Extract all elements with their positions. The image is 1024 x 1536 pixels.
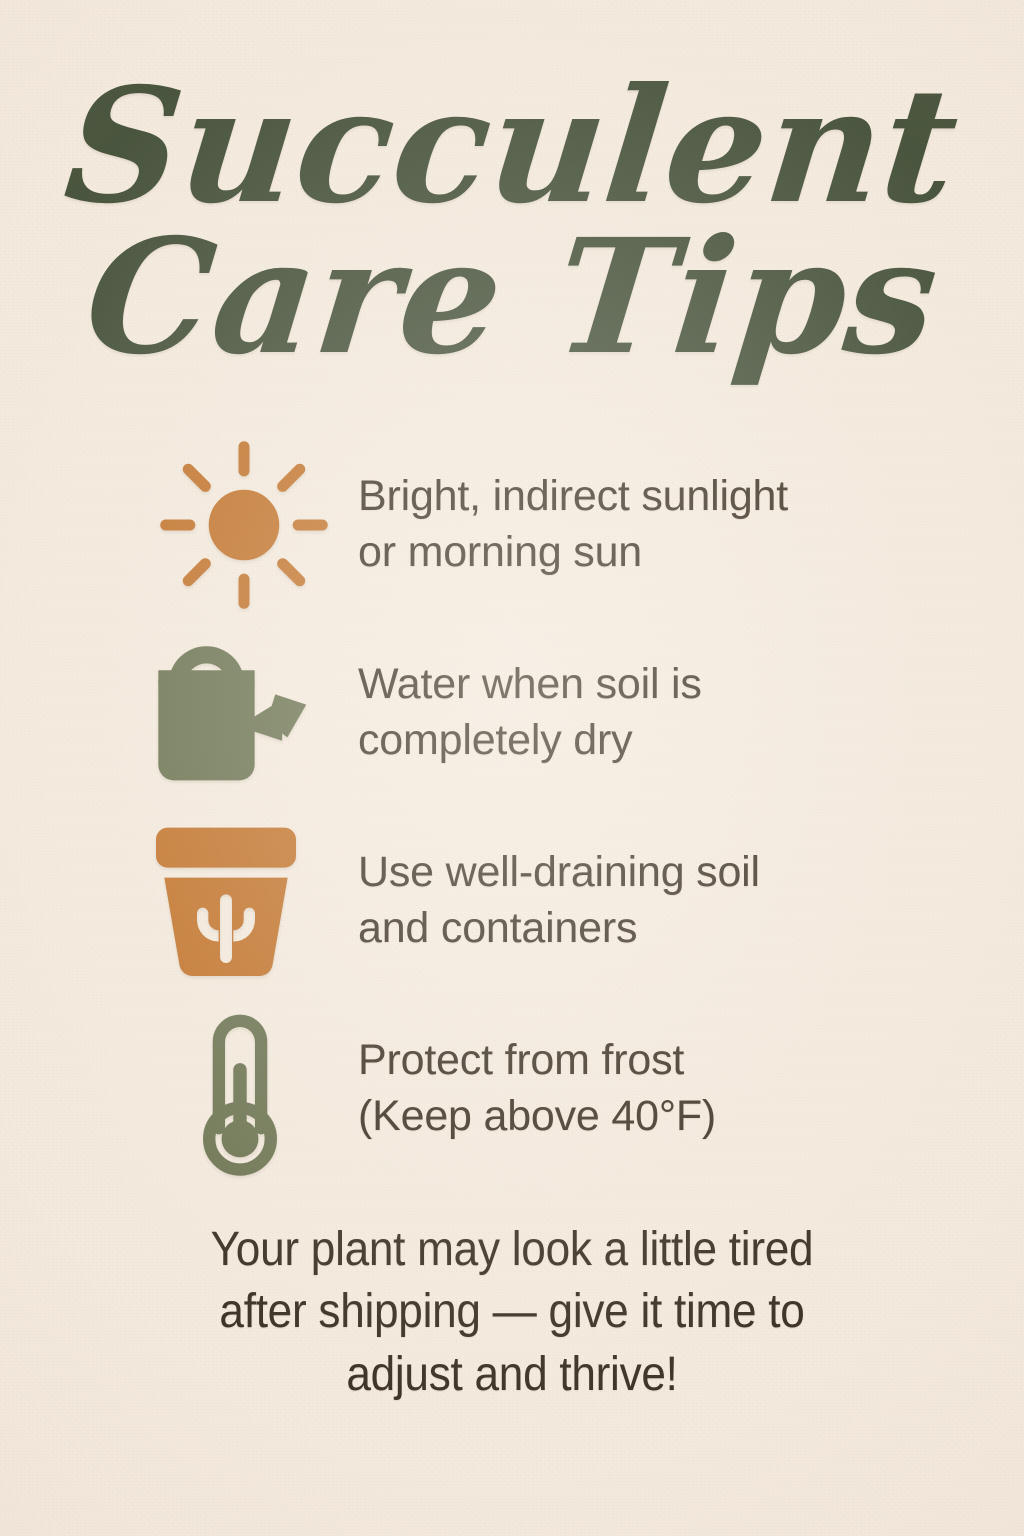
title-line-care-tips: Care Tips — [0, 225, 1024, 370]
tip-line-1: Water when soil is — [358, 657, 964, 713]
tip-line-2: and containers — [358, 901, 964, 957]
tip-row-watering: Water when soil is completely dry — [138, 619, 964, 807]
tip-row-frost: Protect from frost (Keep above 40°F) — [138, 995, 964, 1183]
footer-line-3: adjust and thrive! — [92, 1344, 931, 1406]
tip-text-soil: Use well-draining soil and containers — [358, 845, 964, 957]
watering-can-icon — [124, 629, 344, 801]
care-tips-list: Bright, indirect sunlight or morning sun — [0, 431, 1024, 1183]
tip-text-sunlight: Bright, indirect sunlight or morning sun — [358, 469, 964, 581]
tip-line-1: Use well-draining soil — [358, 845, 964, 901]
footer-line-1: Your plant may look a little tired — [92, 1219, 931, 1281]
plant-pot-icon — [116, 817, 336, 985]
tip-line-2: (Keep above 40°F) — [358, 1089, 964, 1145]
tip-line-1: Bright, indirect sunlight — [358, 469, 964, 525]
tip-text-frost: Protect from frost (Keep above 40°F) — [358, 1033, 964, 1145]
tip-row-soil: Use well-draining soil and containers — [138, 807, 964, 995]
title-line-succulent: Succulent — [0, 74, 1024, 219]
tip-row-sunlight: Bright, indirect sunlight or morning sun — [138, 431, 964, 619]
tip-text-watering: Water when soil is completely dry — [358, 657, 964, 769]
footer-line-2: after shipping — give it time to — [92, 1281, 931, 1343]
succulent-care-tips-poster: Succulent Care Tips — [0, 0, 1024, 1536]
tip-line-2: or morning sun — [358, 525, 964, 581]
footer-note: Your plant may look a little tired after… — [41, 1219, 983, 1406]
tip-line-2: completely dry — [358, 713, 964, 769]
thermometer-icon — [130, 1005, 350, 1181]
page-title: Succulent Care Tips — [0, 0, 1024, 371]
sun-icon — [134, 439, 354, 611]
tip-line-1: Protect from frost — [358, 1033, 964, 1089]
